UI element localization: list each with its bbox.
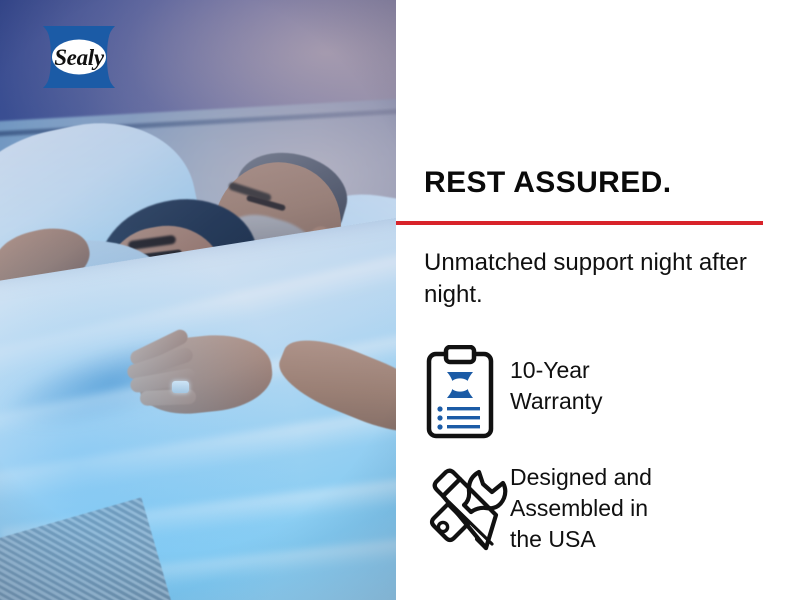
feature-usa-label: Designed and Assembled in the USA	[510, 460, 652, 555]
headline: REST ASSURED.	[424, 166, 671, 200]
feature-warranty: 10-Year Warranty	[424, 345, 602, 441]
feature-warranty-label: 10-Year Warranty	[510, 345, 602, 417]
subhead: Unmatched support night after night.	[424, 247, 800, 311]
content-panel: REST ASSURED. Unmatched support night af…	[396, 0, 800, 600]
advertisement-root: Sealy REST ASSURED. Unmatched support ni…	[0, 0, 800, 600]
pencil-wrench-icon	[424, 460, 510, 556]
sealy-logo: Sealy	[41, 25, 117, 89]
wedding-ring	[172, 381, 189, 393]
red-divider	[396, 221, 763, 225]
clipboard-warranty-icon	[424, 345, 510, 441]
feature-usa: Designed and Assembled in the USA	[424, 460, 652, 556]
couple-sleeping-photo: Sealy	[0, 0, 396, 600]
sealy-logo-text: Sealy	[41, 26, 117, 90]
